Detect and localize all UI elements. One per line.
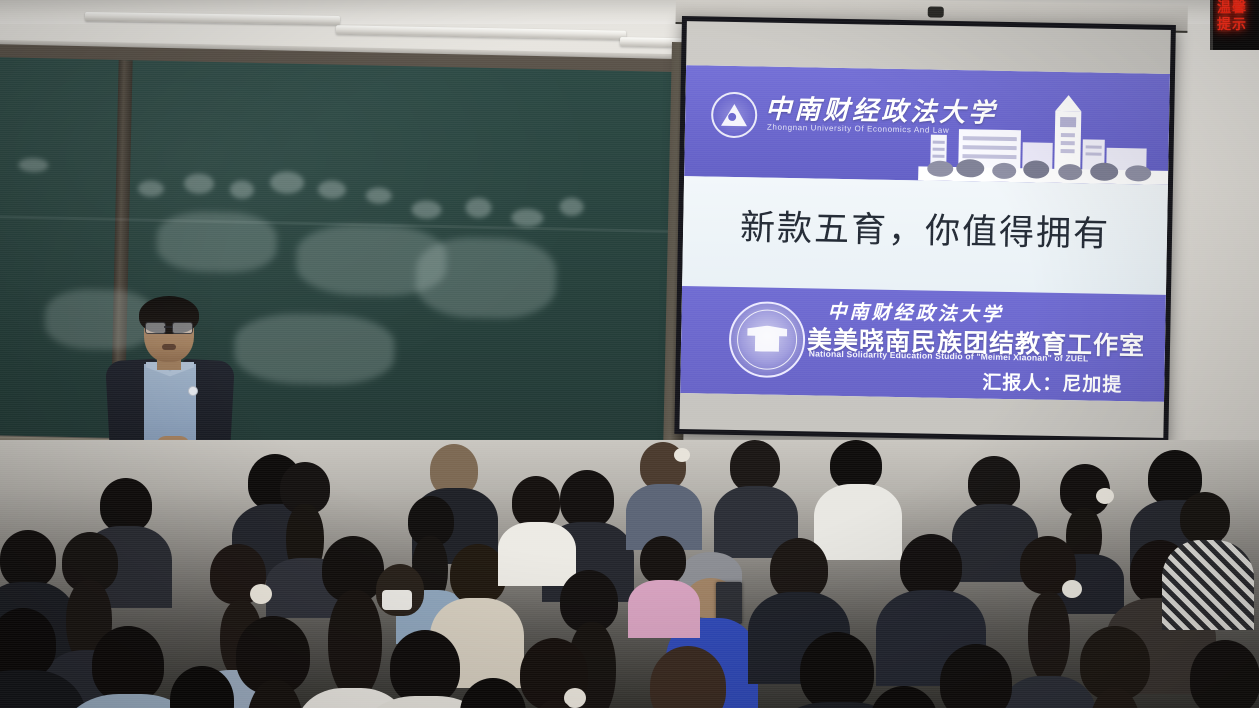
person-ponytail: [328, 590, 382, 700]
hair-scrunchie: [1062, 580, 1082, 598]
face-mask-icon: [382, 590, 412, 610]
chalk-haze: [415, 236, 557, 319]
screen-housing-knob: [928, 6, 944, 17]
led-sign-line2: 提示: [1217, 17, 1259, 34]
lecture-hall-photo: 中南财经政法大学 Zhongnan University Of Economic…: [0, 0, 1259, 708]
person-head: [100, 478, 152, 532]
projection-screen[interactable]: 中南财经政法大学 Zhongnan University Of Economic…: [674, 16, 1176, 443]
slide-title-area: 新款五育，你值得拥有: [682, 176, 1168, 295]
campus-skyline-illustration-icon: [918, 88, 1170, 185]
chalk-smudge: [511, 209, 543, 228]
person-ponytail: [1028, 592, 1070, 684]
chalk-smudge: [138, 180, 164, 197]
studio-seal-emblem-icon: [728, 301, 805, 378]
chalk-smudge: [411, 200, 441, 219]
slide-presenter-label: 汇报人：尼加提: [982, 368, 1122, 398]
person-body: [628, 580, 700, 638]
person-head: [730, 440, 780, 492]
presenter-mouth: [162, 344, 176, 350]
eyeglasses-icon: [145, 322, 193, 332]
person-head: [770, 538, 828, 600]
person-head: [830, 440, 882, 490]
chalk-smudge: [465, 198, 491, 219]
person-body: [498, 522, 576, 586]
presenter-lapel-badge: [188, 386, 198, 396]
person-head: [0, 530, 56, 588]
chalk-smudge: [230, 180, 254, 199]
person-head: [92, 626, 164, 702]
person-head: [800, 632, 874, 708]
chalk-haze: [234, 313, 395, 386]
person-head: [512, 476, 560, 528]
eyeglass-lens-right: [172, 322, 193, 334]
chalk-smudge: [366, 187, 392, 204]
person-body: [814, 484, 902, 560]
chalk-smudge: [270, 171, 304, 194]
hair-scrunchie: [250, 584, 272, 604]
slide-header-band: 中南财经政法大学 Zhongnan University Of Economic…: [684, 65, 1170, 185]
chalk-smudge: [559, 198, 583, 217]
slide-footer-band: 中南财经政法大学 美美晓南民族团结教育工作室 National Solidari…: [680, 286, 1166, 402]
person-body-houndstooth-coat: [1162, 540, 1254, 630]
chalk-smudge: [318, 180, 346, 199]
university-crest-triangle-icon: [711, 92, 758, 139]
led-sign-line1: 温馨: [1217, 0, 1259, 17]
student-audience: [0, 440, 1259, 708]
presentation-slide: 中南财经政法大学 Zhongnan University Of Economic…: [680, 65, 1170, 402]
person-head: [390, 630, 460, 704]
projection-screen-surface: 中南财经政法大学 Zhongnan University Of Economic…: [679, 21, 1170, 438]
slide-title: 新款五育，你值得拥有: [683, 198, 1168, 258]
person-head: [640, 536, 686, 584]
person-head: [560, 470, 614, 528]
person-head: [1190, 640, 1259, 708]
person-head: [900, 534, 962, 598]
chalk-smudge: [184, 173, 214, 194]
hair-scrunchie: [674, 448, 690, 462]
chalk-haze: [156, 211, 277, 274]
person-head: [1180, 492, 1230, 544]
led-scrolling-sign: 温馨 提示: [1210, 0, 1259, 50]
chalk-smudge: [18, 158, 48, 173]
hair-scrunchie: [1096, 488, 1114, 504]
person-head: [968, 456, 1020, 510]
eyeglass-lens-left: [145, 322, 166, 334]
